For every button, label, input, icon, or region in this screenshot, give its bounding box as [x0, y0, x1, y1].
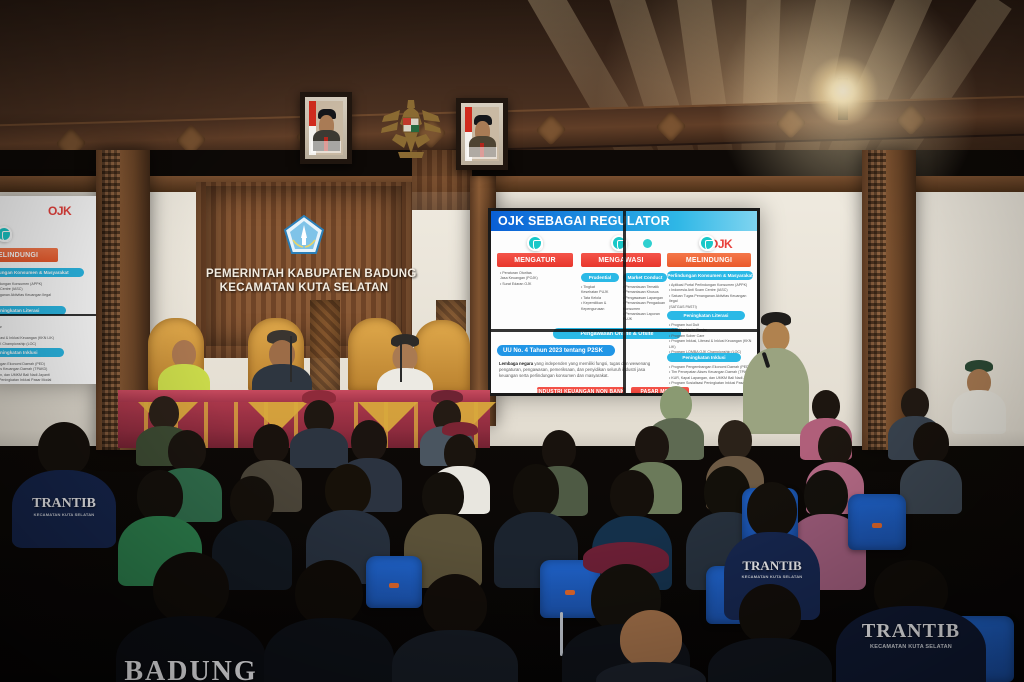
section-cap-perlindungan: Perlindungan Konsumen & Masyarakat	[667, 271, 753, 280]
section-bullets-literasi-left: • Program Isoi Duit • OJK Ngebig ke Banj…	[0, 320, 92, 347]
shirt-sub-trantib-front: KECAMATAN KUTA SELATAN	[870, 644, 952, 650]
badung-regency-emblem	[283, 214, 325, 256]
table-microphone-2	[400, 340, 402, 382]
pillar-cap-melindungi-left: MELINDUNGI	[0, 248, 58, 262]
subgroup-cap-market-conduct: Market Conduct	[623, 273, 667, 282]
ojk-logo-main-screen: OJK	[709, 235, 753, 251]
carved-wood-panel-a	[310, 300, 340, 396]
pillar-cap-mengawasi: MENGAWASI	[581, 253, 661, 267]
shirt-text-trantib-left: TRANTIB	[32, 496, 96, 512]
garuda-pancasila-emblem	[378, 90, 444, 164]
shield-icon-mengatur	[527, 235, 543, 251]
projection-screen-main: OJK SEBAGAI REGULATOR OJK MENGATUR • Per…	[488, 208, 760, 396]
audience-member-front	[392, 574, 518, 682]
stacking-chair[interactable]	[848, 494, 906, 550]
shirt-text-trantib-front: TRANTIB	[862, 620, 960, 643]
shirt-text-trantib-right-upper: TRANTIB	[742, 558, 801, 574]
pillar-cap-melindungi: MELINDUNGI	[667, 253, 751, 267]
screen-seam-vertical	[623, 211, 626, 396]
shield-icon-melindungi	[699, 235, 715, 251]
law-caption: UU No. 4 Tahun 2023 tentang P2SK	[497, 345, 615, 356]
subgroup-bullets-market-conduct: • Pemantauan Tematik • Pemantauan Khusus…	[623, 285, 669, 323]
sign-line-1: PEMERINTAH KABUPATEN BADUNG	[206, 268, 402, 280]
section-cap-perlindungan-left: Perlindungan Konsumen & Masyarakat	[0, 268, 84, 277]
audience-member-front	[708, 584, 832, 682]
subgroup-cap-prudential: Prudential	[581, 273, 619, 282]
shirt-trantib-left: TRANTIB KECAMATAN KUTA SELATAN	[12, 422, 116, 542]
decorative-dot-icon	[643, 239, 652, 248]
section-bullets-inklusi-left: • Program Pengembangan Ekonomi Daerah (P…	[0, 362, 92, 384]
portrait-frame-left	[300, 92, 352, 164]
sign-line-2: KECAMATAN KUTA SELATAN	[206, 282, 402, 294]
footer-tag-ikbn: INDUSTRI KEUANGAN NON BANK	[537, 387, 625, 396]
section-cap-inklusi-left: Peningkatan Inklusi	[0, 348, 64, 357]
shirt-badung: BADUNG	[116, 552, 266, 682]
pillar-cap-mengatur: MENGATUR	[497, 253, 573, 267]
ojk-logo-mark: OJK	[48, 204, 71, 218]
subgroup-bullets-prudential: • Tingkat Kesehatan PUJK • Tata Kelola •…	[581, 285, 619, 312]
shirt-trantib-center: TRANTIB KECAMATAN KUTA SELATAN	[836, 560, 986, 682]
section-bullets-perlindungan: • Aplikasi Portal Perlindungan Konsumen …	[669, 283, 755, 310]
shirt-text-badung: BADUNG	[124, 656, 257, 682]
law-paragraph-bold: Lembaga negara	[499, 361, 533, 366]
section-cap-literasi: Peningkatan Literasi	[667, 311, 745, 320]
table-microphone-1	[290, 336, 292, 382]
portrait-frame-right	[456, 98, 508, 170]
pendant-light-bulb	[808, 56, 878, 126]
ojk-logo-left-screen: OJK	[48, 202, 92, 218]
shirt-sub-trantib-right-upper: KECAMATAN KUTA SELATAN	[742, 574, 803, 579]
audience-member	[900, 422, 962, 510]
section-bullets-perlindungan-left: • Aplikasi Portal Perlindungan Konsumen …	[0, 282, 92, 304]
carved-lattice-right	[868, 150, 886, 450]
audience-member-front	[596, 610, 706, 682]
pillar-bullets-mengatur: • Peraturan Otoritas Jasa Keuangan (POJK…	[500, 271, 576, 287]
law-paragraph: Lembaga negara yang independen yang memi…	[499, 361, 657, 380]
screen-seam-horizontal	[491, 329, 760, 332]
meeting-room-photo: PEMERINTAH KABUPATEN BADUNG KECAMATAN KU…	[0, 0, 1024, 682]
attendee-right-standing	[950, 360, 1008, 430]
section-cap-inklusi: Peningkatan Inklusi	[667, 353, 741, 362]
screen-seam-left	[0, 314, 96, 316]
shield-icon-left	[0, 226, 12, 242]
projection-screen-left: OJK MELINDUNGI Perlindungan Konsumen & M…	[0, 196, 96, 384]
audience-member-front	[264, 560, 394, 682]
shirt-sub-trantib-left: KECAMATAN KUTA SELATAN	[34, 512, 95, 517]
